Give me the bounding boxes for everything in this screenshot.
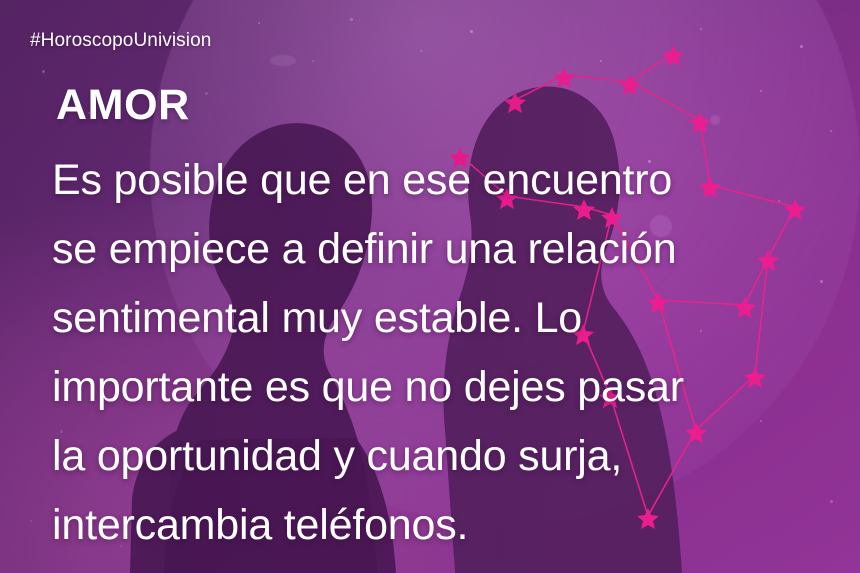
horoscope-card: #HoroscopoUnivision AMOR Es posible que … — [0, 0, 860, 573]
body-line: la oportunidad y cuando surja, — [52, 422, 842, 491]
body-line: intercambia teléfonos. — [52, 491, 842, 560]
page-title: AMOR — [56, 84, 190, 127]
card-content: #HoroscopoUnivision AMOR Es posible que … — [0, 0, 860, 573]
body-line: sentimental muy estable. Lo — [52, 284, 842, 353]
horoscope-body: Es posible que en ese encuentro se empie… — [52, 146, 842, 560]
body-line: se empiece a definir una relación — [52, 215, 842, 284]
body-line: Es posible que en ese encuentro — [52, 146, 842, 215]
hashtag-label: #HoroscopoUnivision — [30, 30, 211, 52]
body-line: importante es que no dejes pasar — [52, 353, 842, 422]
